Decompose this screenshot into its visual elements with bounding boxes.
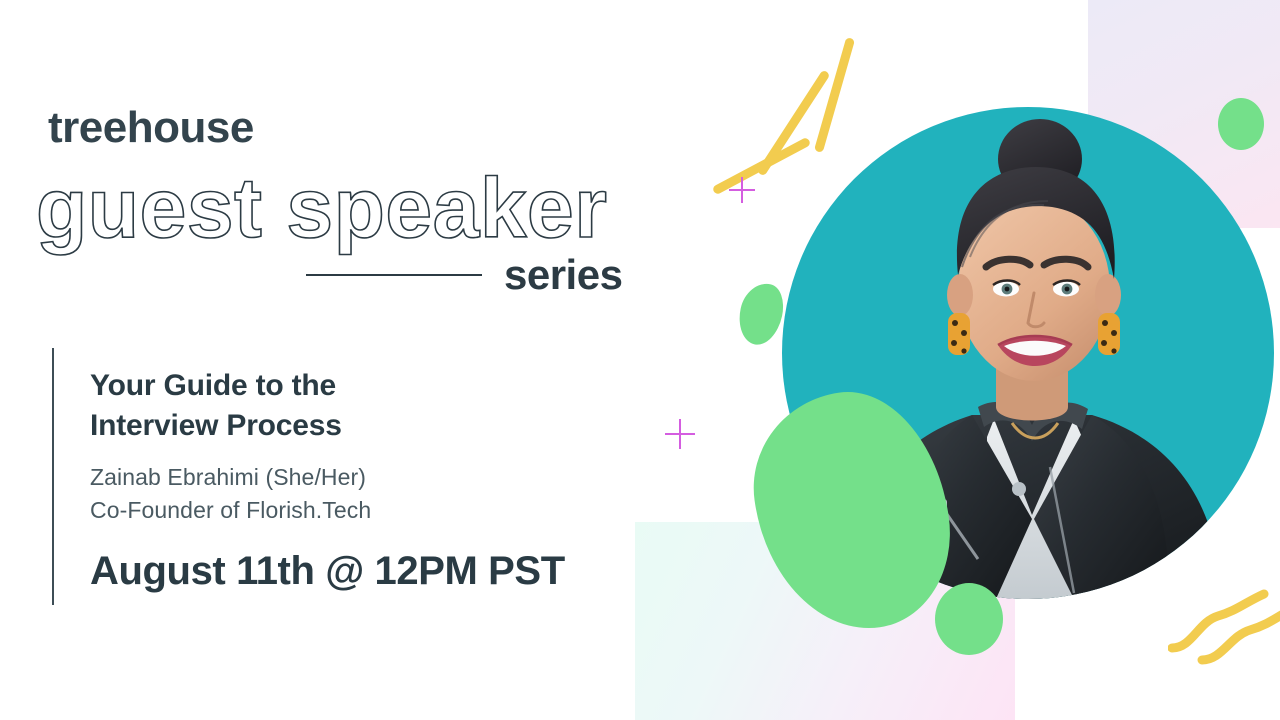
talk-title-line-2: Interview Process [90, 406, 610, 446]
magenta-plus-icon [665, 419, 695, 449]
series-row: series [306, 254, 622, 296]
headline-guest-speaker: guest speaker [36, 166, 607, 250]
left-vertical-rule [52, 348, 54, 605]
green-blob-shape [734, 279, 788, 348]
session-datetime: August 11th @ 12PM PST [90, 549, 610, 593]
talk-title-line-1: Your Guide to the [90, 366, 610, 406]
promo-banner: treehouse guest speaker series Your Guid… [0, 0, 1280, 720]
session-info-block: Your Guide to the Interview Process Zain… [90, 366, 610, 593]
series-label: series [504, 254, 622, 296]
speaker-role: Co-Founder of Florish.Tech [90, 494, 610, 527]
series-divider-rule [306, 274, 482, 276]
green-blob-shape [1218, 98, 1264, 150]
magenta-plus-icon [729, 177, 755, 203]
talk-title: Your Guide to the Interview Process [90, 366, 610, 445]
treehouse-wordmark: treehouse [48, 106, 254, 150]
speaker-name: Zainab Ebrahimi (She/Her) [90, 461, 610, 494]
yellow-squiggle-icon [1168, 588, 1280, 668]
green-blob-shape [935, 583, 1003, 655]
